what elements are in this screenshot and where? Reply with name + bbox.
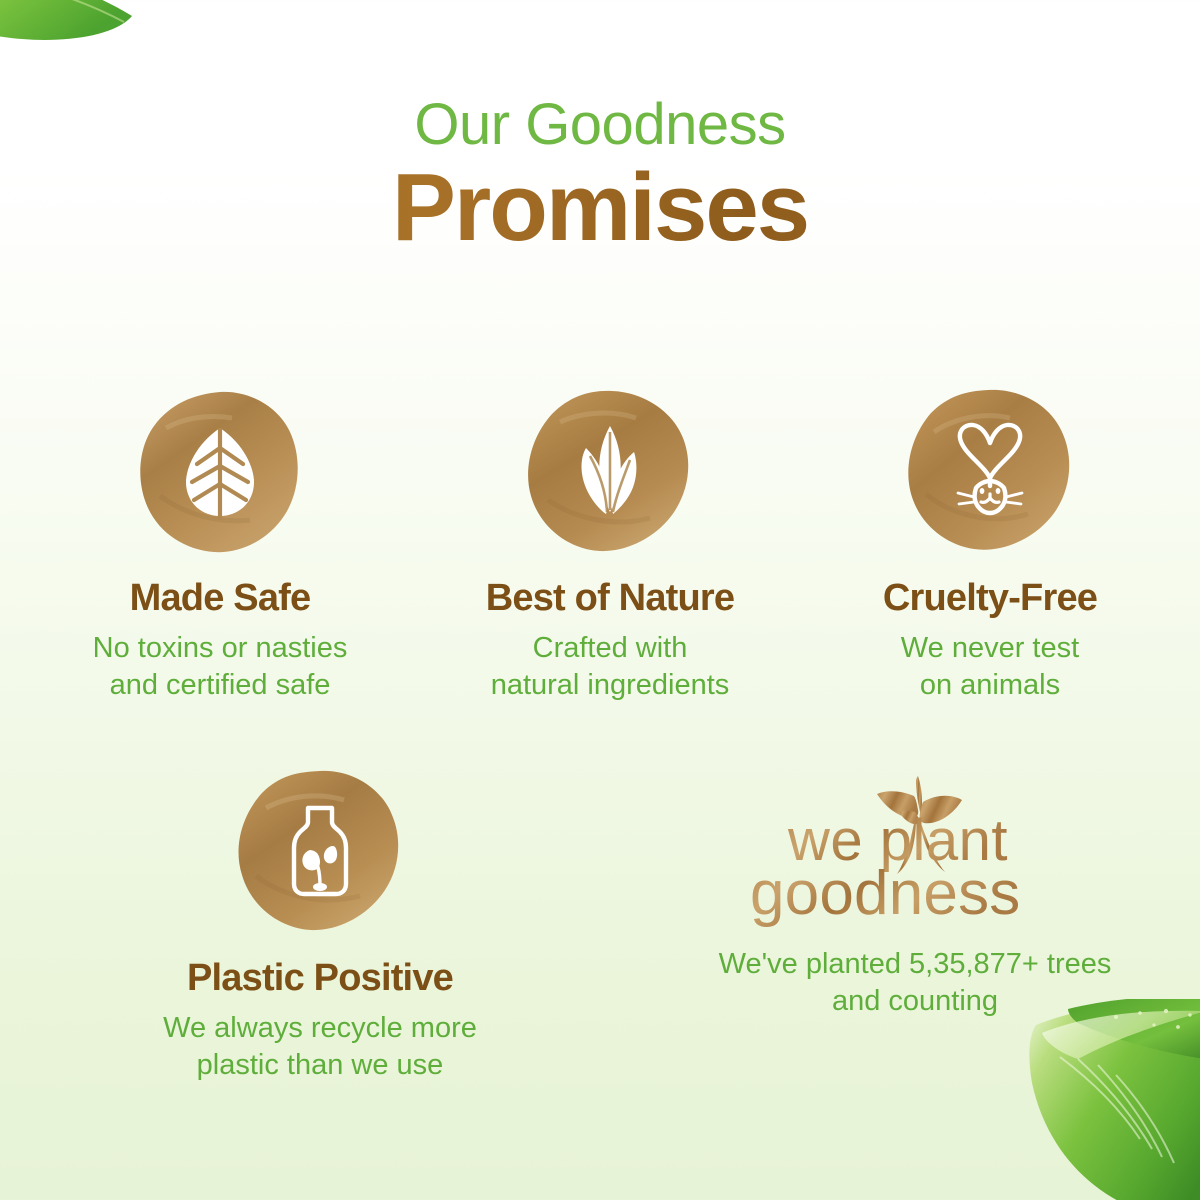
promise-title: Made Safe — [130, 578, 311, 620]
promise-description: We never test on animals — [901, 630, 1079, 704]
we-plant-goodness-block[interactable]: we plant goodness We've planted 5,35,877… — [650, 768, 1180, 1084]
svg-text:goodness: goodness — [750, 859, 1021, 928]
promise-card-plastic-positive[interactable]: Plastic Positive We always recycle more … — [0, 768, 650, 1084]
promises-row-1: Made Safe No toxins or nasties and certi… — [0, 388, 1200, 704]
promise-card-made-safe[interactable]: Made Safe No toxins or nasties and certi… — [25, 388, 415, 704]
trees-planted-text: We've planted 5,35,877+ trees and counti… — [650, 946, 1180, 1020]
promises-row-2: Plastic Positive We always recycle more … — [0, 768, 1200, 1084]
page-title: Our Goodness Promises — [0, 96, 1200, 259]
bottle-sprout-icon — [270, 802, 370, 902]
green-leaf-photo — [0, 0, 190, 98]
promise-card-cruelty-free[interactable]: Cruelty-Free We never test on animals — [805, 388, 1175, 704]
leaf-icon — [170, 422, 270, 522]
promise-title: Cruelty-Free — [883, 578, 1097, 620]
badge-cruelty-free — [906, 388, 1074, 556]
three-leaves-icon — [560, 422, 660, 522]
promise-description: No toxins or nasties and certified safe — [93, 630, 348, 704]
badge-best-of-nature — [526, 388, 694, 556]
promise-title: Plastic Positive — [187, 958, 453, 1000]
badge-plastic-positive — [236, 768, 404, 936]
we-plant-goodness-logo: we plant goodness — [750, 768, 1080, 928]
promise-title: Best of Nature — [486, 578, 735, 620]
headline-eyebrow: Our Goodness — [0, 96, 1200, 154]
promise-description: Crafted with natural ingredients — [491, 630, 730, 704]
badge-made-safe — [136, 388, 304, 556]
bunny-heart-ears-icon — [940, 422, 1040, 522]
promise-description: We always recycle more plastic than we u… — [163, 1010, 477, 1084]
promise-card-best-of-nature[interactable]: Best of Nature Crafted with natural ingr… — [415, 388, 805, 704]
headline-main: Promises — [0, 158, 1200, 259]
